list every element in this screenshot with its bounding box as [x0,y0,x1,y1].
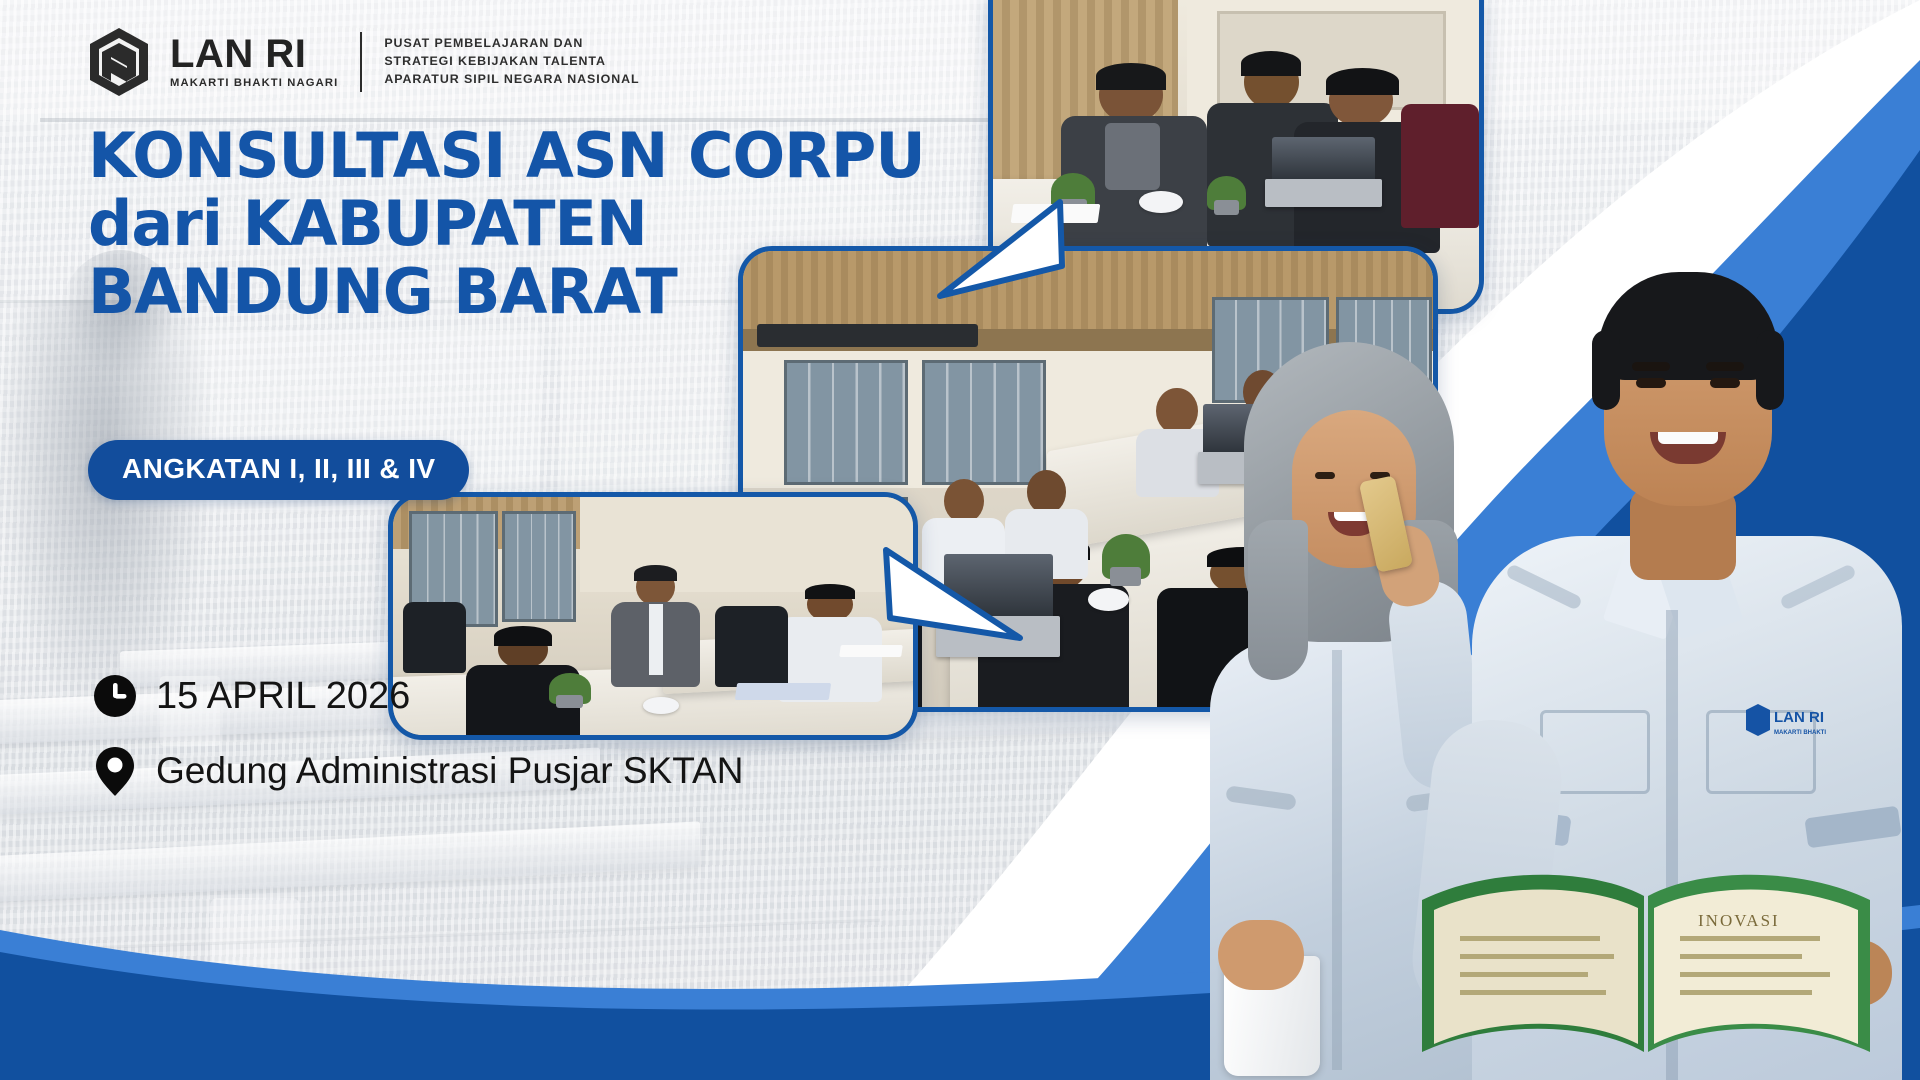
tagline-line-2: STRATEGI KEBIJAKAN TALENTA [384,54,639,70]
brand-tagline: PUSAT PEMBELAJARAN DAN STRATEGI KEBIJAKA… [384,36,639,89]
uniform-logo-patch: LAN RI MAKARTI BHAKTI [1734,702,1826,756]
headline-block: KONSULTASI ASN CORPU dari KABUPATEN BAND… [88,126,925,322]
headline-line-2: dari KABUPATEN [88,194,925,255]
status-badge: ANGKATAN I, II, III & IV [88,440,469,500]
photo-callout-tail-bottom [880,540,1030,650]
foreground-man-book: LAN RI MAKARTI BHAKTI INOVASI [1448,250,1920,1080]
brand-name: LAN RI [170,35,338,74]
tagline-line-3: APARATUR SIPIL NEGARA NASIONAL [384,72,639,88]
headline-line-2-prefix: dari [88,187,243,260]
svg-text:MAKARTI BHAKTI: MAKARTI BHAKTI [1774,730,1826,736]
lanri-cube-icon [86,26,152,98]
brand-logo-row: LAN RI MAKARTI BHAKTI NAGARI PUSAT PEMBE… [86,26,640,98]
open-book-prop: INOVASI [1412,856,1880,1066]
svg-text:INOVASI: INOVASI [1698,911,1780,930]
clock-icon [92,673,138,719]
headline-line-3: BANDUNG BARAT [88,262,925,323]
headline-line-1: KONSULTASI ASN CORPU [88,126,925,187]
brand-motto: MAKARTI BHAKTI NAGARI [170,77,338,89]
photo-seated-discussion [393,497,913,735]
photo-card-bottom-left [388,492,918,740]
event-location-text: Gedung Administrasi Pusjar SKTAN [156,750,743,792]
logo-divider [360,32,362,92]
brand-wordmark: LAN RI MAKARTI BHAKTI NAGARI [170,35,338,89]
tagline-line-1: PUSAT PEMBELAJARAN DAN [384,36,639,52]
headline-line-2-main: KABUPATEN [243,187,647,260]
event-date-text: 15 APRIL 2026 [156,675,410,718]
map-pin-icon [92,745,138,797]
event-location-row: Gedung Administrasi Pusjar SKTAN [92,745,743,797]
svg-text:LAN RI: LAN RI [1774,709,1824,726]
poster-canvas: LAN RI MAKARTI BHAKTI INOVASI [0,0,1920,1080]
photo-callout-tail-top [930,196,1070,306]
event-date-row: 15 APRIL 2026 [92,673,410,719]
